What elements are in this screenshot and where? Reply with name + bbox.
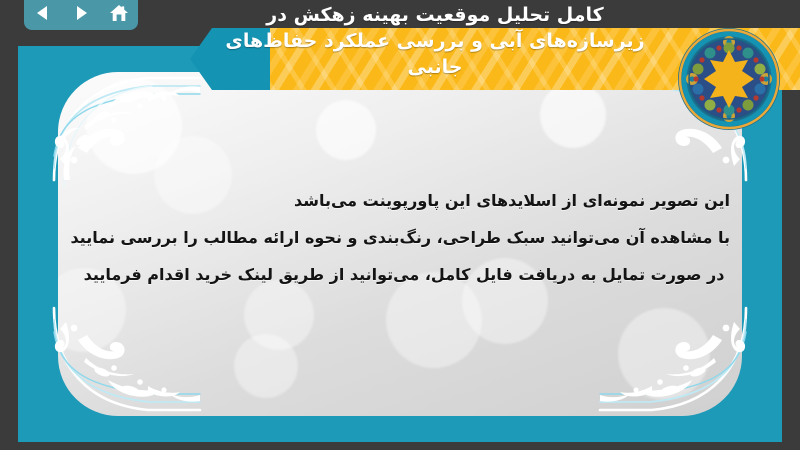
body-line: در صورت تمایل به دریافت فایل کامل، می‌تو…: [78, 256, 730, 293]
body-line: با مشاهده آن می‌توانید سبک طراحی، رنگ‌بن…: [78, 219, 730, 256]
bokeh-circle: [618, 308, 710, 400]
previous-slide-button[interactable]: [30, 1, 56, 25]
slide-body-text: این تصویر نمونه‌ای از اسلایدهای این پاور…: [78, 182, 730, 293]
banner-ribbon-tail: [190, 28, 272, 90]
title-line: کامل تحلیل موقعیت بهینه زهکش در: [200, 2, 670, 28]
arrow-right-icon: [72, 4, 90, 22]
home-button[interactable]: [106, 1, 132, 25]
next-slide-button[interactable]: [68, 1, 94, 25]
slide-viewer: این تصویر نمونه‌ای از اسلایدهای این پاور…: [0, 0, 800, 450]
home-icon: [109, 4, 129, 23]
arrow-left-icon: [34, 4, 52, 22]
bokeh-circle: [234, 334, 298, 398]
bottom-bar: [0, 442, 800, 450]
slide-canvas: این تصویر نمونه‌ای از اسلایدهای این پاور…: [18, 46, 782, 442]
slide-navigation-bar: [24, 0, 138, 30]
bokeh-circle: [540, 82, 606, 148]
persian-medallion-icon: [676, 26, 782, 132]
bokeh-circle: [316, 100, 376, 160]
body-line: این تصویر نمونه‌ای از اسلایدهای این پاور…: [78, 182, 730, 219]
